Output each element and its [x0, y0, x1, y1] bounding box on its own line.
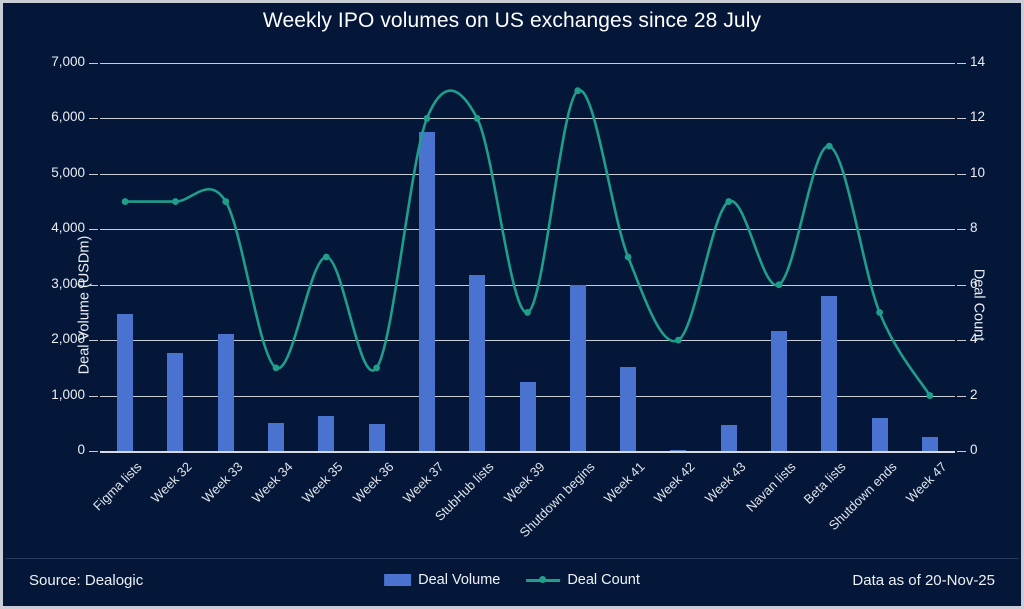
line-marker[interactable]: Figma lists: 9 — [122, 198, 129, 205]
y-tick-left — [89, 396, 98, 397]
gridline — [100, 285, 955, 286]
line-marker[interactable]: Week 34: 3 — [273, 364, 280, 371]
bar-swatch-icon — [384, 574, 411, 586]
chart-title: Weekly IPO volumes on US exchanges since… — [3, 9, 1021, 33]
line-marker[interactable]: Week 39: 5 — [524, 309, 531, 316]
y-tick-label-right: 10 — [970, 166, 985, 180]
bar[interactable] — [721, 425, 737, 451]
x-axis-label: Week 37 — [400, 459, 447, 506]
y-tick-left — [89, 285, 98, 286]
deal-count-line — [125, 90, 930, 395]
y-tick-label-left: 5,000 — [51, 166, 85, 180]
y-tick-left — [89, 118, 98, 119]
bar[interactable] — [369, 424, 385, 451]
x-axis-label: Week 34 — [249, 459, 296, 506]
deal-count-markers: Figma lists: 9Week 32: 9Week 33: 9Week 3… — [122, 87, 933, 399]
y-tick-label-right: 8 — [970, 221, 978, 235]
y-tick-left — [89, 451, 98, 452]
y-tick-label-left: 7,000 — [51, 55, 85, 69]
line-marker[interactable]: Week 35: 7 — [323, 254, 330, 261]
y-tick-left — [89, 229, 98, 230]
gridline — [100, 118, 955, 119]
bar[interactable] — [218, 334, 234, 452]
y-tick-label-right: 12 — [970, 110, 985, 124]
gridline — [100, 63, 955, 64]
y-tick-label-right: 4 — [970, 332, 978, 346]
chart-container: Weekly IPO volumes on US exchanges since… — [0, 0, 1024, 609]
footer-divider — [6, 558, 1018, 559]
x-axis-label: Week 36 — [349, 459, 396, 506]
x-axis-label: Navan lists — [743, 459, 799, 515]
x-axis-label: Week 47 — [903, 459, 950, 506]
y-tick-right — [957, 396, 966, 397]
line-marker[interactable]: Shutdown ends: 5 — [876, 309, 883, 316]
legend-label-deal-volume: Deal Volume — [418, 572, 500, 588]
bar[interactable] — [318, 416, 334, 451]
legend-item-deal-count[interactable]: Deal Count — [526, 572, 640, 588]
bar[interactable] — [771, 331, 787, 451]
bar[interactable] — [117, 314, 133, 451]
bar[interactable] — [872, 418, 888, 451]
bar[interactable] — [469, 275, 485, 451]
legend-item-deal-volume[interactable]: Deal Volume — [384, 572, 500, 588]
x-axis-label: Week 35 — [299, 459, 346, 506]
y-tick-label-right: 14 — [970, 55, 985, 69]
y-tick-label-left: 6,000 — [51, 110, 85, 124]
line-marker[interactable]: Week 33: 9 — [222, 198, 229, 205]
chart-legend: Deal Volume Deal Count — [384, 572, 640, 588]
y-tick-left — [89, 340, 98, 341]
y-tick-label-left: 2,000 — [51, 332, 85, 346]
legend-label-deal-count: Deal Count — [567, 572, 640, 588]
y-tick-right — [957, 340, 966, 341]
line-marker[interactable]: Shutdown begins: 13 — [574, 87, 581, 94]
y-tick-left — [89, 63, 98, 64]
x-axis-label: Week 43 — [702, 459, 749, 506]
line-marker[interactable]: Week 36: 3 — [373, 364, 380, 371]
y-tick-left — [89, 174, 98, 175]
x-axis-label: Week 41 — [601, 459, 648, 506]
x-axis-label: Beta lists — [801, 459, 849, 507]
y-tick-right — [957, 285, 966, 286]
bar[interactable] — [620, 367, 636, 451]
source-label: Source: Dealogic — [29, 572, 143, 589]
y-tick-label-right: 0 — [970, 443, 978, 457]
plot-area: 01,0002,0003,0004,0005,0006,0007,000 024… — [100, 63, 955, 451]
line-marker[interactable]: Week 32: 9 — [172, 198, 179, 205]
line-marker[interactable]: Week 41: 7 — [625, 254, 632, 261]
line-marker[interactable]: Beta lists: 11 — [826, 143, 833, 150]
y-tick-label-left: 3,000 — [51, 277, 85, 291]
bar[interactable] — [268, 423, 284, 451]
y-tick-right — [957, 118, 966, 119]
bar[interactable] — [821, 296, 837, 451]
y-tick-right — [957, 229, 966, 230]
y-tick-label-left: 4,000 — [51, 221, 85, 235]
x-axis-label: Week 33 — [199, 459, 246, 506]
gridline — [100, 451, 955, 453]
x-axis-label: Week 42 — [651, 459, 698, 506]
chart-footer: Source: Dealogic Deal Volume Deal Count … — [3, 558, 1021, 606]
bar[interactable] — [922, 437, 938, 451]
line-marker-swatch-icon — [526, 574, 560, 586]
bar[interactable] — [520, 382, 536, 451]
line-marker[interactable]: Week 43: 9 — [725, 198, 732, 205]
bar[interactable] — [167, 353, 183, 451]
bar[interactable] — [670, 450, 686, 452]
gridline — [100, 174, 955, 175]
y-axis-title-left: Deal Volume (USDm) — [76, 235, 92, 374]
x-axis-labels: Figma listsWeek 32Week 33Week 34Week 35W… — [100, 455, 955, 555]
y-tick-label-right: 2 — [970, 388, 978, 402]
y-tick-right — [957, 174, 966, 175]
y-tick-label-right: 6 — [970, 277, 978, 291]
y-tick-right — [957, 451, 966, 452]
bar[interactable] — [419, 132, 435, 451]
x-axis-label: Figma lists — [90, 459, 145, 514]
gridline — [100, 229, 955, 230]
x-axis-label: Week 39 — [500, 459, 547, 506]
as-of-label: Data as of 20-Nov-25 — [852, 572, 995, 589]
y-tick-right — [957, 63, 966, 64]
x-axis-label: Week 32 — [148, 459, 195, 506]
y-tick-label-left: 0 — [77, 443, 85, 457]
bar[interactable] — [570, 285, 586, 451]
y-tick-label-left: 1,000 — [51, 388, 85, 402]
